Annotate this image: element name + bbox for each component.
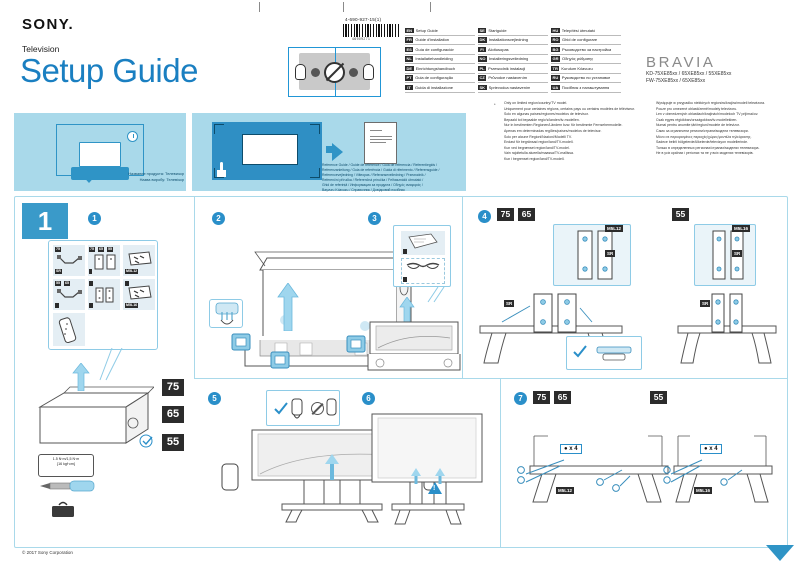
language-title: Installeringsveiledning [489,56,528,61]
language-code: PL [478,66,486,72]
language-code: EN [405,28,414,34]
sony-trademark-dot: . [68,16,74,33]
language-row: BGРъководство за настройка [551,45,621,55]
language-title: Installationsvejledning [489,37,528,42]
room-illustration [56,124,144,176]
language-title: Guía de configuración [415,47,454,52]
language-row: NLInstallatiehandleiding [405,55,475,65]
clip-connector-icon [229,330,257,354]
intro-panel-product-name: Название продукта: Телевизор Назва вироб… [14,113,186,191]
language-code: FI [478,47,486,53]
screwdriver-icon [38,478,98,494]
barcode-number: 46909271 [352,37,370,41]
accessories-box: 75 SR 75 65 55 M5L12 55 65 [48,240,158,350]
language-title: Startguide [488,28,506,33]
step-marker-4: 4 [478,210,491,223]
bracket-icon [94,287,116,303]
language-column-2: SEStartguide DKInstallationsvejledning F… [478,26,548,93]
language-code: BG [551,47,560,53]
hand-icon [363,64,374,80]
size-badge-75: 75 [533,391,550,404]
cable-icon [57,288,83,302]
language-row: FRGuide d'installation [405,36,475,46]
language-title: Посібник з налаштування [562,85,610,90]
barcode-icon [343,24,399,37]
screw-quantity-badge: ● x 4 [700,444,722,454]
stand-bracket-icon [703,229,751,283]
3d-glasses-icon [405,261,441,275]
language-title: Průvodce nastavením [488,75,527,80]
manual-sheet-icon [407,233,439,251]
language-row: ITGuida di installazione [405,83,475,93]
language-row: ENSetup Guide [405,26,475,36]
accessory-part-label: M5L16 [125,303,138,308]
screw-label-m5l14: M5L16 [732,225,750,232]
language-row: ROGhid de configurare [551,36,621,46]
accessory-part-label: SR [55,269,62,274]
arrow-up-open-carton [72,363,90,391]
room-corner-mark [310,124,320,134]
language-title: Ръководство за настройка [562,47,611,52]
size-badge-75: 75 [497,208,514,221]
language-title: Setup Guide [416,28,438,33]
trim-mark [430,2,431,12]
hand-correct-icon [289,397,305,423]
language-row: SEStartguide [478,26,548,36]
book-text-line [370,136,392,137]
arrow-down-icon [80,173,98,183]
intro-panel-reference-guide: Reference Guide / Guide de référence / G… [192,113,466,191]
language-code: CZ [478,75,486,81]
language-title: Einrichtungshandbuch [416,66,456,71]
accessory-size-label: 65 [64,281,70,286]
footnote-bullet: * [494,102,496,107]
toolbox-icon [50,500,76,520]
copyright-notice: © 2017 Sony Corporation [22,550,73,555]
language-row: UAПосібник з налаштування [551,83,621,93]
book-text-line [370,139,392,140]
reference-guide-line: Başvuru Kılavuzu / Справочник / Довідков… [322,188,464,193]
model-line-2: FW-75XE85xx / 65XE85xx [646,78,731,85]
screw-label-sr: SR [504,300,514,307]
language-title: Руководство по установке [562,75,611,80]
stand-leg-icon [92,254,118,272]
quantity-label: x 4 [569,446,577,452]
room-corner-mark [310,168,320,178]
check-icon [274,402,288,416]
accessory-size-label: 55 [55,281,61,286]
callout-pointer [96,348,136,382]
accessory-part-label [55,303,59,308]
clock-icon [127,131,138,142]
language-title: Ghid de configurare [562,37,597,42]
step7-screw-stand-small-illustration [660,430,788,508]
step4-stand-assembly-small [672,286,782,370]
arrow-up-lift [277,283,299,331]
size-badge-55: 55 [672,208,689,221]
reference-guide-language-list: Reference Guide / Guide de référence / G… [322,163,464,193]
accessory-part-label [89,281,93,286]
setup-guide-page: SONY. Television Setup Guide 4-690-927-1… [0,0,802,567]
language-row: ESGuía de configuración [405,45,475,55]
section-divider [462,196,463,379]
accessory-size-label: 75 [89,247,95,252]
sony-wordmark: SONY [22,16,68,33]
part-label-sr: SR [605,250,615,257]
page-title: Setup Guide [20,52,198,90]
language-row: RUРуководство по установке [551,74,621,84]
language-code: NO [478,56,487,62]
language-code: RU [551,75,560,81]
size-badge-75: 75 [162,379,184,396]
screw-label-sr: SR [700,300,710,307]
language-code: SE [478,28,486,34]
language-list: ENSetup Guide FRGuide d'installation ESG… [405,26,621,93]
size-badge-65: 65 [518,208,535,221]
television-icon [242,134,298,165]
torque-line-2: {16 kgf·cm} [39,462,93,467]
stand-seated-icon [591,343,637,365]
language-title: Οδηγός ρύθμισης [562,56,593,61]
screw-head-icon: ● [564,446,568,452]
hand-detail-callout [209,299,243,328]
check-icon [573,345,587,359]
language-code: DK [478,37,487,43]
language-row: GRΟδηγός ρύθμισης [551,55,621,65]
language-title: Aloitusopas [488,47,509,52]
page-turn-indicator-icon [766,545,794,561]
accessory-size-label: 55 [107,247,113,252]
size-badge-55: 55 [650,391,667,404]
language-code: RO [551,37,560,43]
plant-leaf [220,162,223,171]
arrow-right-icon [332,143,343,161]
step-marker-6: 6 [362,392,375,405]
language-code: NL [405,56,413,62]
screw-quantity-badge: ● x 4 [560,444,582,454]
product-name-labels: Название продукта: Телевизор Назва вироб… [106,171,184,182]
step-marker-7: 7 [514,392,527,405]
size-badge-65: 65 [162,406,184,423]
hand-icon [210,300,244,329]
language-row: SKSprievodca nastavením [478,83,548,93]
cable-icon [57,254,83,268]
language-title: Sprievodca nastavením [489,85,531,90]
language-code: PT [405,75,413,81]
language-column-1: ENSetup Guide FRGuide d'installation ESG… [405,26,475,93]
television-icon [79,142,121,167]
step6-tv-standing-illustration [358,408,494,528]
plant-pot [217,170,226,177]
language-title: Kurulum Kılavuzu [561,66,592,71]
accessory-part-label: M5L12 [125,269,138,274]
section-divider [500,379,501,548]
language-code: IT [405,85,413,91]
product-series: BRAVIA [646,54,716,71]
section-divider [194,196,195,379]
step3-tv-in-carton-illustration [366,318,462,374]
language-code: ES [405,47,413,53]
language-row: PLPrzewodnik instalacji [478,64,548,74]
step3-contents-callout [393,225,451,287]
language-title: Guia de configuração [415,75,453,80]
language-title: Guide d'installation [415,37,449,42]
prohibited-icon [311,402,324,415]
screw-head-icon: ● [704,446,708,452]
language-row: FIAloitusopas [478,45,548,55]
footnote-column-b: Występuje w przypadku niektórych regionó… [656,101,798,163]
language-column-3: HUTelepítési útmutató ROGhid de configur… [551,26,621,93]
plant-icon [217,161,226,177]
cutter-icon [138,432,158,450]
step4-detail-callout-large [553,224,631,286]
part-number: 4-690-927-15(1) [345,17,381,22]
book-text-line [370,142,386,143]
product-name-ua: Назва виробу: Телевізор [106,177,184,183]
chapter-number: 1 [22,203,68,239]
language-title: Przewodnik instalacji [488,66,525,71]
language-row: DKInstallationsvejledning [478,36,548,46]
accessory-part-label [403,249,407,254]
step4-verify-callout [566,336,642,370]
language-code: UA [551,85,560,91]
step-marker-5: 5 [208,392,221,405]
book-text-line [370,130,382,131]
accessory-size-label: 65 [98,247,104,252]
intro-band: Название продукта: Телевизор Назва вироб… [14,113,466,191]
language-title: Guida di installazione [415,85,453,90]
step-marker-1: 1 [88,212,101,225]
language-code: TR [551,66,559,72]
language-row: TRKurulum Kılavuzu [551,64,621,74]
hand-incorrect-icon [325,397,339,423]
clip-connector-icon [268,348,296,372]
footnote-column-a: Only on limited region/country/TV model.… [504,101,646,163]
trim-mark [259,2,260,12]
step-marker-2: 2 [212,212,225,225]
language-code: SK [478,85,487,91]
language-title: Installatiehandleiding [415,56,452,61]
size-badge-65: 65 [554,391,571,404]
language-row: CZPrůvodce nastavením [478,74,548,84]
step-marker-3: 3 [368,212,381,225]
accessory-size-label: 75 [55,247,61,252]
accessory-part-label [403,277,407,282]
accessory-part-label [89,269,92,274]
part-label-sr: SR [732,250,742,257]
hand-icon [295,64,306,80]
palm-contact-mark [349,68,358,77]
palm-contact-mark [311,68,320,77]
accessory-part-label [89,303,93,308]
screw-label-m5l12: M5L12 [605,225,623,232]
wall-mount-illustration [212,122,322,180]
language-code: HU [551,28,560,34]
screw-bag-icon [127,285,153,301]
footnote-block: * Only on limited region/country/TV mode… [494,101,798,163]
warning-triangle-icon [428,482,442,494]
language-row: NOInstalleringsveiledning [478,55,548,65]
language-code: DE [405,66,414,72]
model-line-1: KD-75XE85xx / 65XE85xx / 55XE85xx [646,71,731,78]
language-row: HUTelepítési útmutató [551,26,621,36]
carton-illustration [34,385,154,455]
reference-guide-book-icon [364,122,397,164]
sony-logo: SONY. [22,16,74,33]
room-corner-mark [214,124,224,134]
language-row: PTGuia de configuração [405,74,475,84]
no-touch-screen-illustration [288,47,381,97]
trim-mark [343,2,344,12]
language-row: DEEinrichtungshandbuch [405,64,475,74]
screw-label-m5l14: M5L16 [694,487,712,494]
section-divider [194,378,788,379]
language-code: GR [551,56,560,62]
step5-do-dont-callout [266,390,340,426]
screw-label-m5l12: M5L12 [556,487,574,494]
footnote-line: Не в усіх країнах і регіонах та не у всі… [656,151,798,157]
footnote-line: Kun i begrenset region/land/TV-modell. [504,157,646,163]
torque-spec-callout: 1.5 N·m/1,5 N·m {16 kgf·cm} [38,454,94,477]
language-title: Telepítési útmutató [562,28,596,33]
remote-control-icon [58,317,80,343]
product-models: KD-75XE85xx / 65XE85xx / 55XE85xx FW-75X… [646,71,731,85]
language-code: FR [405,37,413,43]
screw-bag-icon [127,251,153,267]
size-badge-55: 55 [162,434,184,451]
quantity-label: x 4 [709,446,717,452]
step4-detail-callout-small [694,224,756,286]
